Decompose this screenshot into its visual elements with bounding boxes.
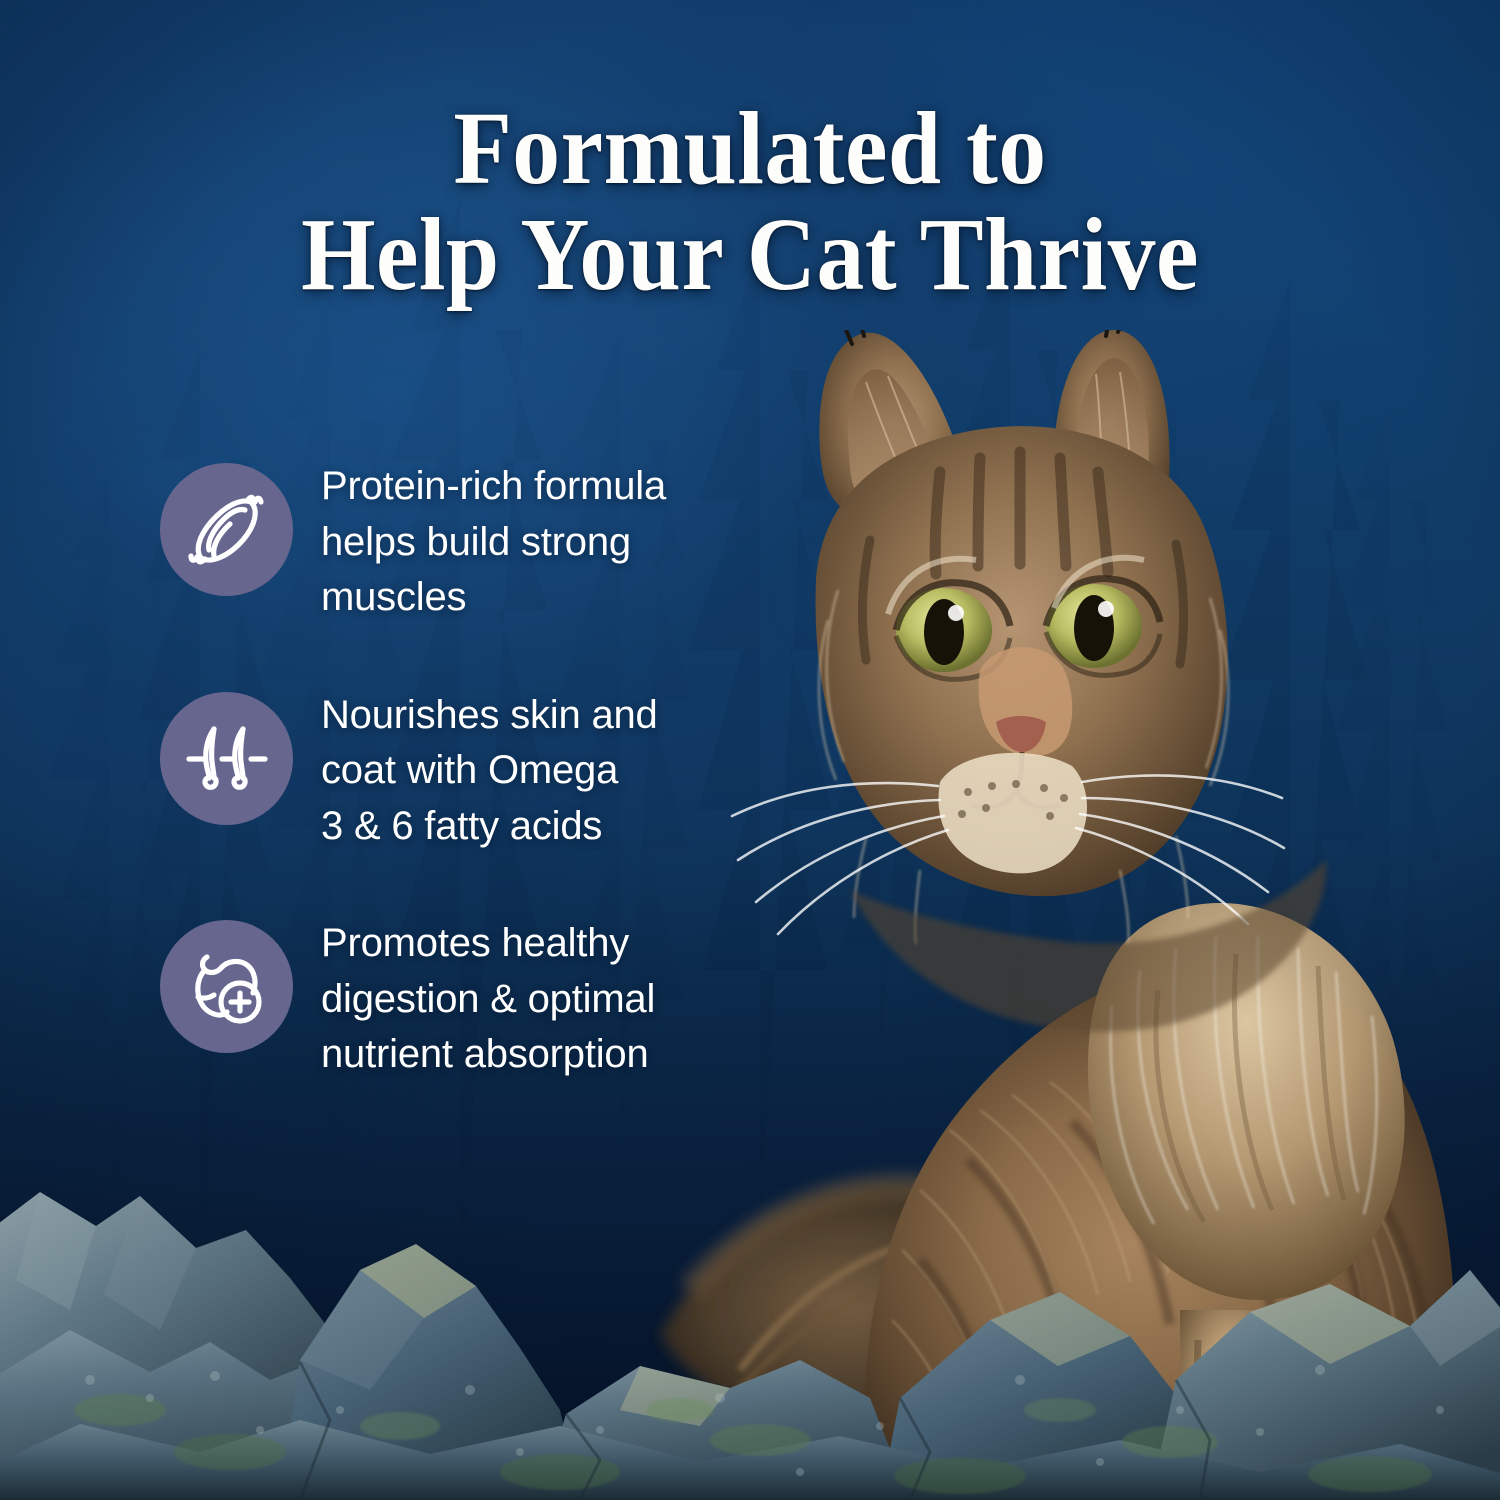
feature-item-skin-coat: Nourishes skin and coat with Omega 3 & 6…: [160, 684, 780, 855]
feature-item-digestion: Promotes healthy digestion & optimal nut…: [160, 912, 780, 1083]
feature-text-protein: Protein-rich formula helps build strong …: [321, 455, 666, 626]
feature-item-protein: Protein-rich formula helps build strong …: [160, 455, 780, 626]
muscle-fiber-icon: [160, 463, 293, 596]
headline-line-2: Help Your Cat Thrive: [60, 202, 1440, 308]
feature-text-digestion: Promotes healthy digestion & optimal nut…: [321, 912, 655, 1083]
rock-foreground: [0, 1080, 1500, 1500]
feature-text-skin-coat: Nourishes skin and coat with Omega 3 & 6…: [321, 684, 658, 855]
product-feature-poster: Formulated to Help Your Cat Thrive Prote…: [0, 0, 1500, 1500]
page-title: Formulated to Help Your Cat Thrive: [60, 96, 1440, 308]
hair-follicle-skin-icon: [160, 692, 293, 825]
headline-line-1: Formulated to: [60, 96, 1440, 202]
feature-list: Protein-rich formula helps build strong …: [160, 455, 780, 1083]
stomach-plus-icon: [160, 920, 293, 1053]
